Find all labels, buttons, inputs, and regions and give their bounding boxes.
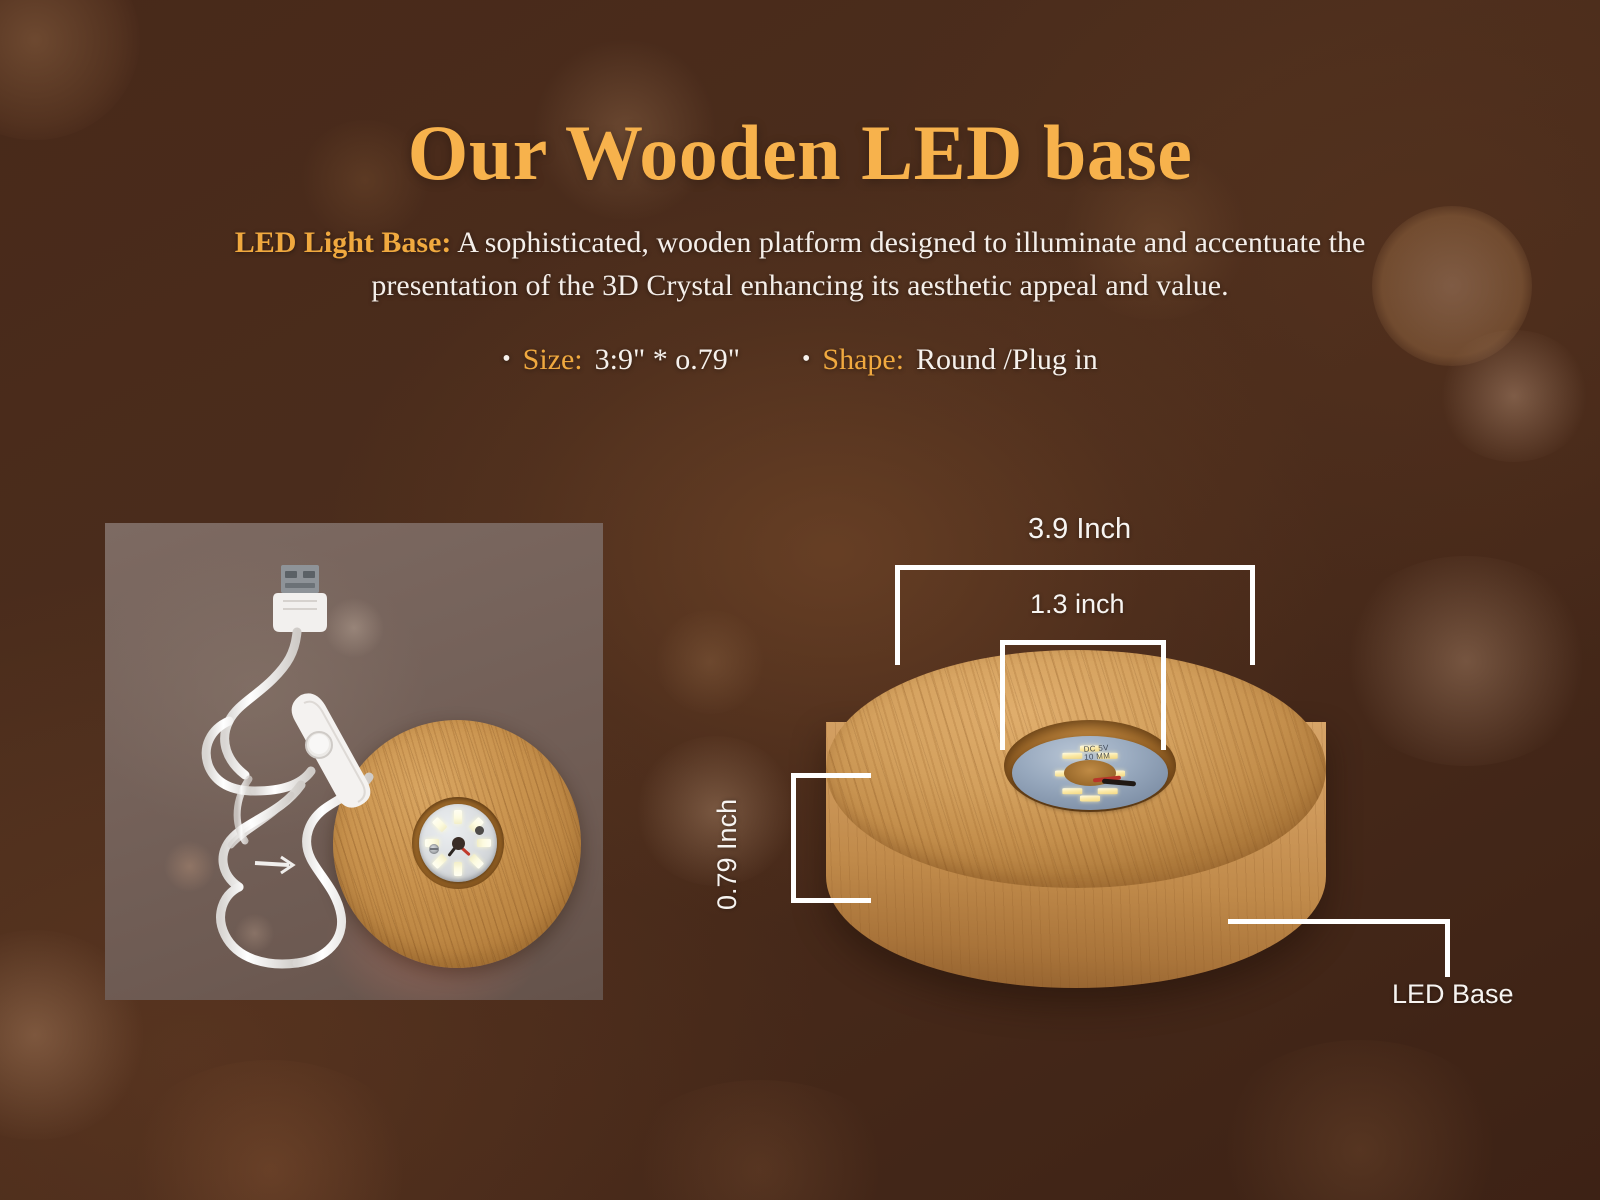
led-chip-icon [1098,788,1118,794]
dimension-label-aperture: 1.3 inch [1030,589,1125,620]
led-base-3d-render: DC 5V10 MM [812,636,1340,1016]
inline-switch [292,693,371,807]
led-module-pcb: DC 5V10 MM [1012,736,1168,810]
spec-label-size: Size: [523,343,583,377]
bullet-icon: • [802,347,810,371]
description-paragraph: LED Light Base: A sophisticated, wooden … [160,222,1440,307]
page-title: Our Wooden LED base [0,112,1600,193]
pcb-wire-black [1102,779,1136,787]
usb-cable [105,523,603,1000]
spec-list: • Size: 3:9" * o.79" • Shape: Round /Plu… [0,343,1600,377]
spec-item-size: • Size: 3:9" * o.79" [502,343,740,377]
spec-value-size: 3:9" * o.79" [595,343,740,377]
slide-canvas: Our Wooden LED base LED Light Base: A so… [0,0,1600,1200]
dimension-label-width: 3.9 Inch [1028,513,1131,546]
cable-tie-icon [255,857,293,873]
led-chip-icon [1062,788,1082,794]
description-lead: LED Light Base: [235,226,452,259]
led-chip-icon [1080,795,1100,801]
description-body: A sophisticated, wooden platform designe… [371,226,1365,302]
spec-value-shape: Round /Plug in [916,343,1098,377]
bullet-icon: • [502,347,510,371]
usb-connector-icon [273,565,327,632]
spec-label-shape: Shape: [822,343,904,377]
product-photo [105,523,603,1000]
led-chip-icon [1062,752,1082,758]
spec-item-shape: • Shape: Round /Plug in [802,343,1098,377]
callout-label-led-base: LED Base [1392,979,1514,1010]
dimension-label-height: 0.79 Inch [712,799,743,910]
disc-recess: DC 5V10 MM [1004,720,1176,812]
disc-top-surface: DC 5V10 MM [826,650,1326,888]
